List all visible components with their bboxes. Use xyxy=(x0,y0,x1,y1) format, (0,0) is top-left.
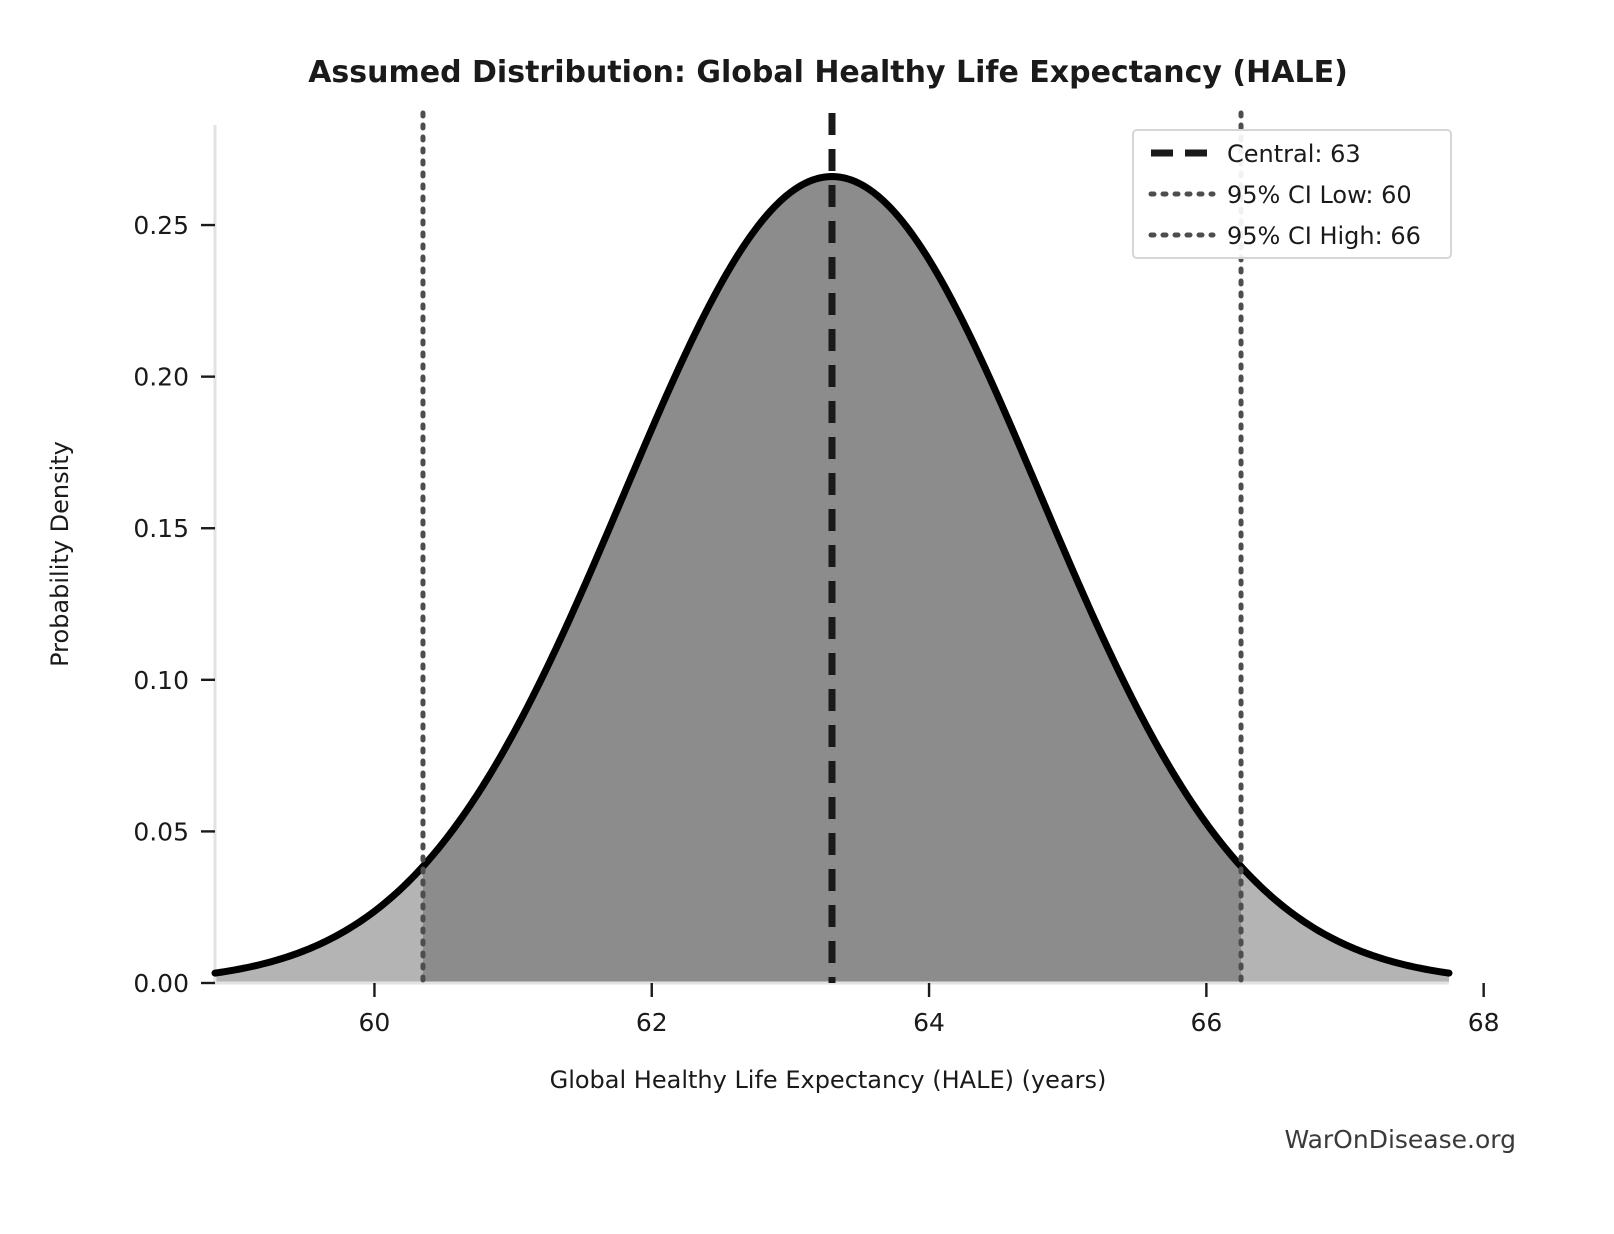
legend-central-label: Central: 63 xyxy=(1227,140,1361,168)
x-tick-label: 66 xyxy=(1190,1008,1222,1037)
chart-legend: Central: 6395% CI Low: 6095% CI High: 66 xyxy=(1133,130,1451,258)
y-axis-label: Probability Density xyxy=(46,441,74,667)
distribution-chart: Assumed Distribution: Global Healthy Lif… xyxy=(0,0,1614,1234)
y-tick-label: 0.25 xyxy=(133,211,189,240)
y-tick-label: 0.05 xyxy=(133,817,189,846)
y-tick-label: 0.20 xyxy=(133,363,189,392)
x-tick-label: 62 xyxy=(636,1008,668,1037)
chart-figure: Assumed Distribution: Global Healthy Lif… xyxy=(0,0,1614,1234)
x-tick-label: 60 xyxy=(359,1008,391,1037)
chart-title: Assumed Distribution: Global Healthy Lif… xyxy=(308,55,1348,90)
x-tick-label: 68 xyxy=(1468,1008,1500,1037)
x-axis-ticks: 6062646668 xyxy=(359,983,1500,1037)
x-tick-label: 64 xyxy=(913,1008,945,1037)
y-tick-label: 0.10 xyxy=(133,666,189,695)
legend-ci-high-label: 95% CI High: 66 xyxy=(1227,222,1421,250)
watermark: WarOnDisease.org xyxy=(1284,1125,1516,1154)
x-axis-label: Global Healthy Life Expectancy (HALE) (y… xyxy=(550,1066,1107,1094)
legend-ci-low-label: 95% CI Low: 60 xyxy=(1227,181,1412,209)
y-tick-label: 0.15 xyxy=(133,514,189,543)
y-axis-ticks: 0.000.050.100.150.200.25 xyxy=(133,211,215,998)
y-tick-label: 0.00 xyxy=(133,969,189,998)
